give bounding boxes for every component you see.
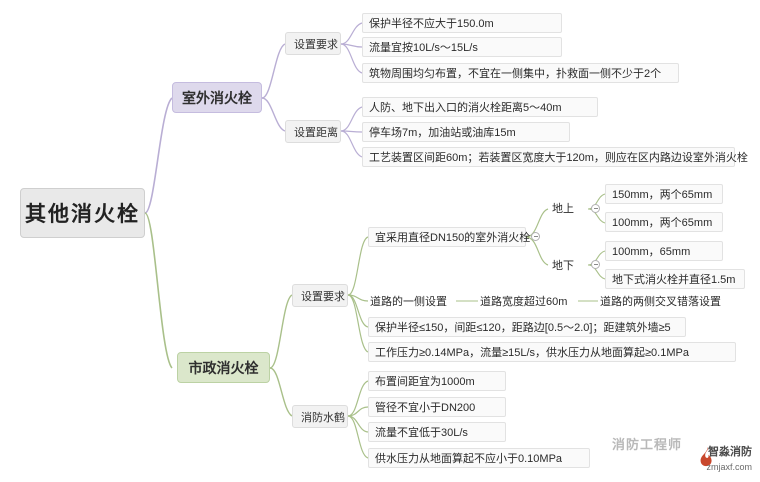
leaf-fire-crane-2[interactable]: 管径不宜小于DN200 xyxy=(368,397,506,417)
leaf-outdoor-dist-1[interactable]: 人防、地下出入口的消火栓距离5～40m xyxy=(362,97,598,117)
collapse-toggle-underground[interactable] xyxy=(591,260,600,269)
leaf-municipal-req-2[interactable]: 道路的一侧设置 xyxy=(368,292,456,310)
leaf-outdoor-req-2[interactable]: 流量宜按10L/s～15L/s xyxy=(362,37,562,57)
branch-node-outdoor[interactable]: 室外消火栓 xyxy=(172,82,262,113)
mindmap-canvas: 其他消火栓 室外消火栓 市政消火栓 设置要求 保护半径不应大于150.0m 流量… xyxy=(0,0,760,482)
leaf-outdoor-dist-2[interactable]: 停车场7m，加油站或油库15m xyxy=(362,122,570,142)
leaf-road-both-sides[interactable]: 道路的两侧交叉错落设置 xyxy=(598,292,734,310)
group-node-outdoor-requirements[interactable]: 设置要求 xyxy=(285,32,341,55)
collapse-toggle-dn150[interactable] xyxy=(531,232,540,241)
leaf-municipal-req-1[interactable]: 宜采用直径DN150的室外消火栓 xyxy=(368,227,526,247)
leaf-road-width-condition[interactable]: 道路宽度超过60m xyxy=(478,292,578,310)
group-node-outdoor-distance[interactable]: 设置距离 xyxy=(285,120,341,143)
group-node-fire-crane[interactable]: 消防水鹤 xyxy=(292,405,348,428)
leaf-fire-crane-4[interactable]: 供水压力从地面算起不应小于0.10MPa xyxy=(368,448,590,468)
leaf-outdoor-req-1[interactable]: 保护半径不应大于150.0m xyxy=(362,13,562,33)
leaf-municipal-underground-label[interactable]: 地下 xyxy=(550,256,586,274)
watermark: 消防工程师 智淼消防 zmjaxf.com xyxy=(612,434,752,478)
watermark-faded-text: 消防工程师 xyxy=(612,434,682,453)
group-node-municipal-requirements[interactable]: 设置要求 xyxy=(292,284,348,307)
leaf-fire-crane-1[interactable]: 布置间距宜为1000m xyxy=(368,371,506,391)
leaf-aboveground-1[interactable]: 150mm，两个65mm xyxy=(605,184,723,204)
leaf-underground-2[interactable]: 地下式消火栓并直径1.5m xyxy=(605,269,745,289)
leaf-outdoor-dist-3[interactable]: 工艺装置区间距60m；若装置区宽度大于120m，则应在区内路边设室外消火栓 xyxy=(362,147,735,167)
leaf-municipal-req-4[interactable]: 工作压力≥0.14MPa，流量≥15L/s，供水压力从地面算起≥0.1MPa xyxy=(368,342,736,362)
leaf-outdoor-req-3[interactable]: 筑物周围均匀布置，不宜在一侧集中，扑救面一侧不少于2个 xyxy=(362,63,679,83)
brand-url: zmjaxf.com xyxy=(706,462,752,472)
leaf-underground-1[interactable]: 100mm，65mm xyxy=(605,241,723,261)
leaf-fire-crane-3[interactable]: 流量不宜低于30L/s xyxy=(368,422,506,442)
brand-name: 智淼消防 xyxy=(708,446,752,459)
leaf-aboveground-2[interactable]: 100mm，两个65mm xyxy=(605,212,723,232)
leaf-municipal-aboveground-label[interactable]: 地上 xyxy=(550,199,586,217)
branch-node-municipal[interactable]: 市政消火栓 xyxy=(177,352,270,383)
collapse-toggle-aboveground[interactable] xyxy=(591,204,600,213)
root-node[interactable]: 其他消火栓 xyxy=(20,188,145,238)
leaf-municipal-req-3[interactable]: 保护半径≤150，间距≤120，距路边[0.5～2.0]；距建筑外墙≥5 xyxy=(368,317,686,337)
